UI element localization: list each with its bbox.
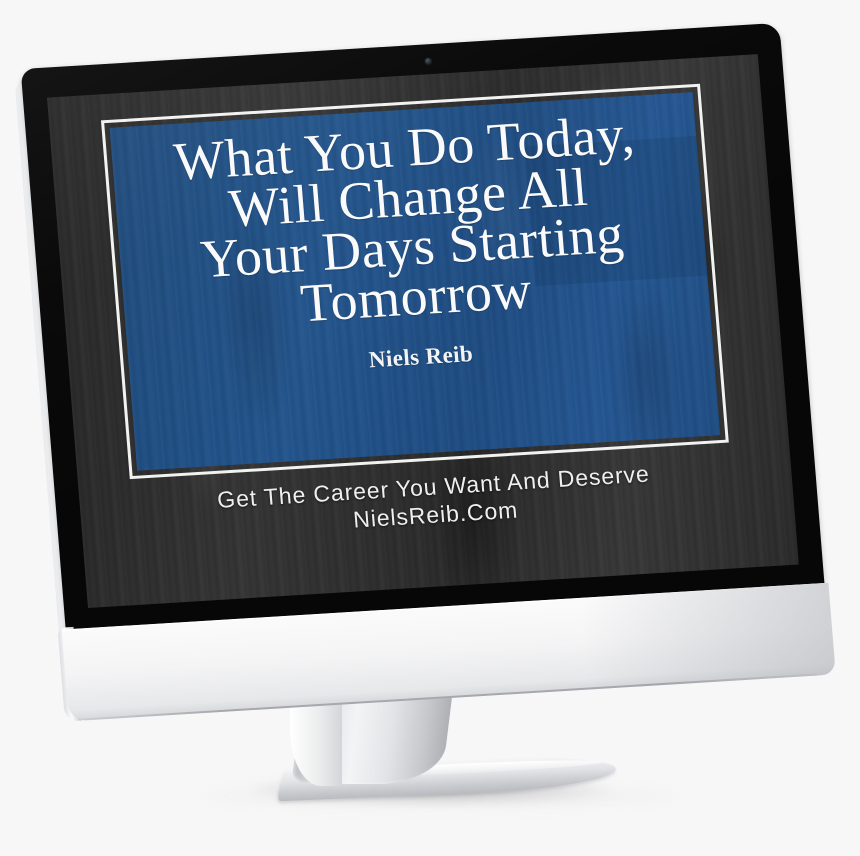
screen-display[interactable]: What You Do Today, Will Change All Your … [47, 54, 799, 608]
quote-attribution: Niels Reib [128, 326, 713, 388]
chin-bottom-edge [79, 674, 818, 721]
monitor-bezel: What You Do Today, Will Change All Your … [21, 23, 825, 636]
quote-frame: What You Do Today, Will Change All Your … [101, 84, 729, 479]
chin-shading [579, 583, 836, 690]
monitor-body: What You Do Today, Will Change All Your … [21, 21, 860, 717]
webcam-icon [425, 58, 431, 64]
quote-panel: What You Do Today, Will Change All Your … [110, 92, 721, 471]
imac-mockup-scene: What You Do Today, Will Change All Your … [0, 0, 860, 856]
floor-shadow [250, 776, 610, 802]
quote-headline: What You Do Today, Will Change All Your … [111, 106, 710, 340]
